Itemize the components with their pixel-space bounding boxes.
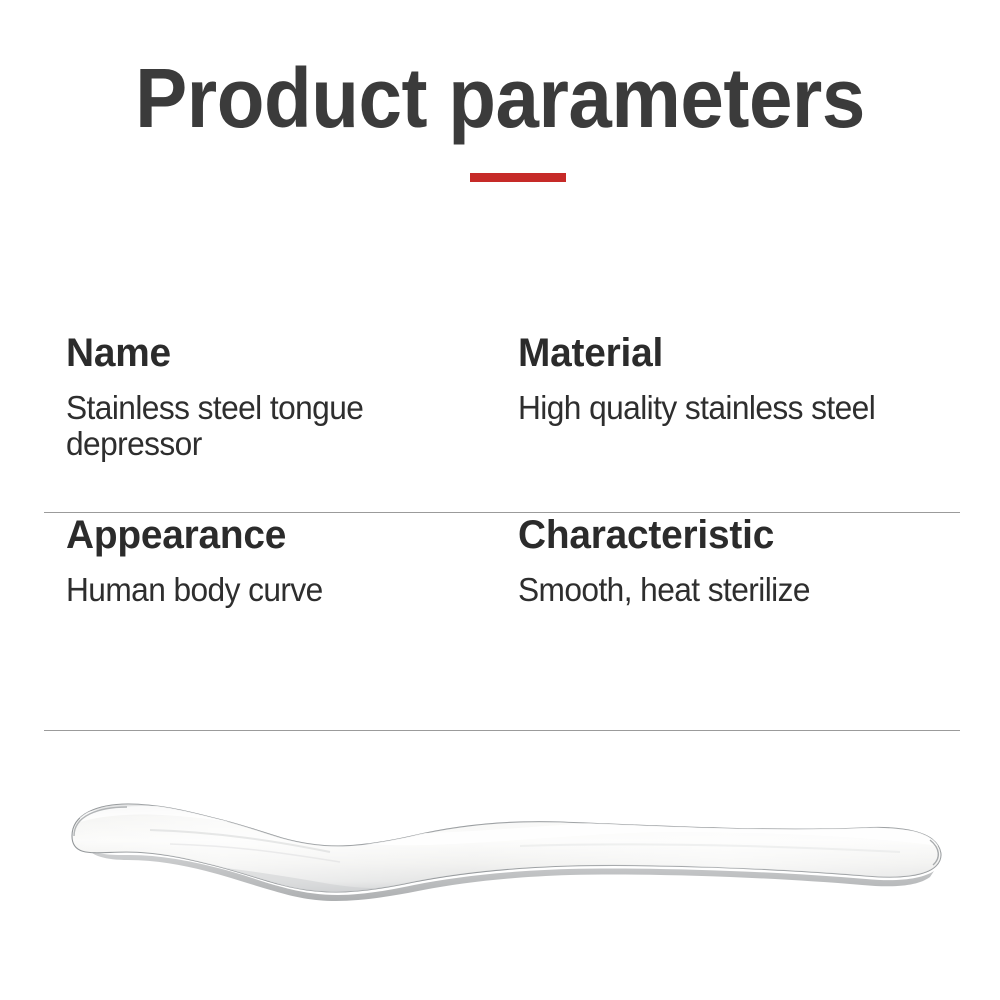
spec-item-name: Name Stainless steel tongue depressor (66, 330, 521, 462)
spec-value: High quality stainless steel (518, 390, 969, 426)
spec-item-characteristic: Characteristic Smooth, heat sterilize (518, 512, 988, 608)
spec-value: Human body curve (66, 572, 503, 608)
spec-item-appearance: Appearance Human body curve (66, 512, 521, 608)
spec-label: Name (66, 330, 507, 376)
tongue-depressor-illustration (0, 760, 1000, 980)
spec-divider-1 (44, 512, 960, 513)
spec-divider-2 (44, 730, 960, 731)
product-photo (0, 760, 1000, 980)
spec-value: Smooth, heat sterilize (518, 572, 969, 608)
spec-item-material: Material High quality stainless steel (518, 330, 988, 426)
spec-value: Stainless steel tongue depressor (66, 390, 503, 462)
title-underline-accent (470, 173, 566, 182)
page-title: Product parameters (35, 52, 965, 144)
product-parameters-page: Product parameters Name Stainless steel … (0, 0, 1000, 1000)
spec-row: Name Stainless steel tongue depressor Ma… (0, 330, 1000, 512)
header: Product parameters (0, 0, 1000, 200)
spec-row: Appearance Human body curve Characterist… (0, 512, 1000, 694)
spec-label: Characteristic (518, 512, 974, 558)
spec-label: Material (518, 330, 974, 376)
blade-sheen (60, 800, 960, 900)
spec-label: Appearance (66, 512, 507, 558)
